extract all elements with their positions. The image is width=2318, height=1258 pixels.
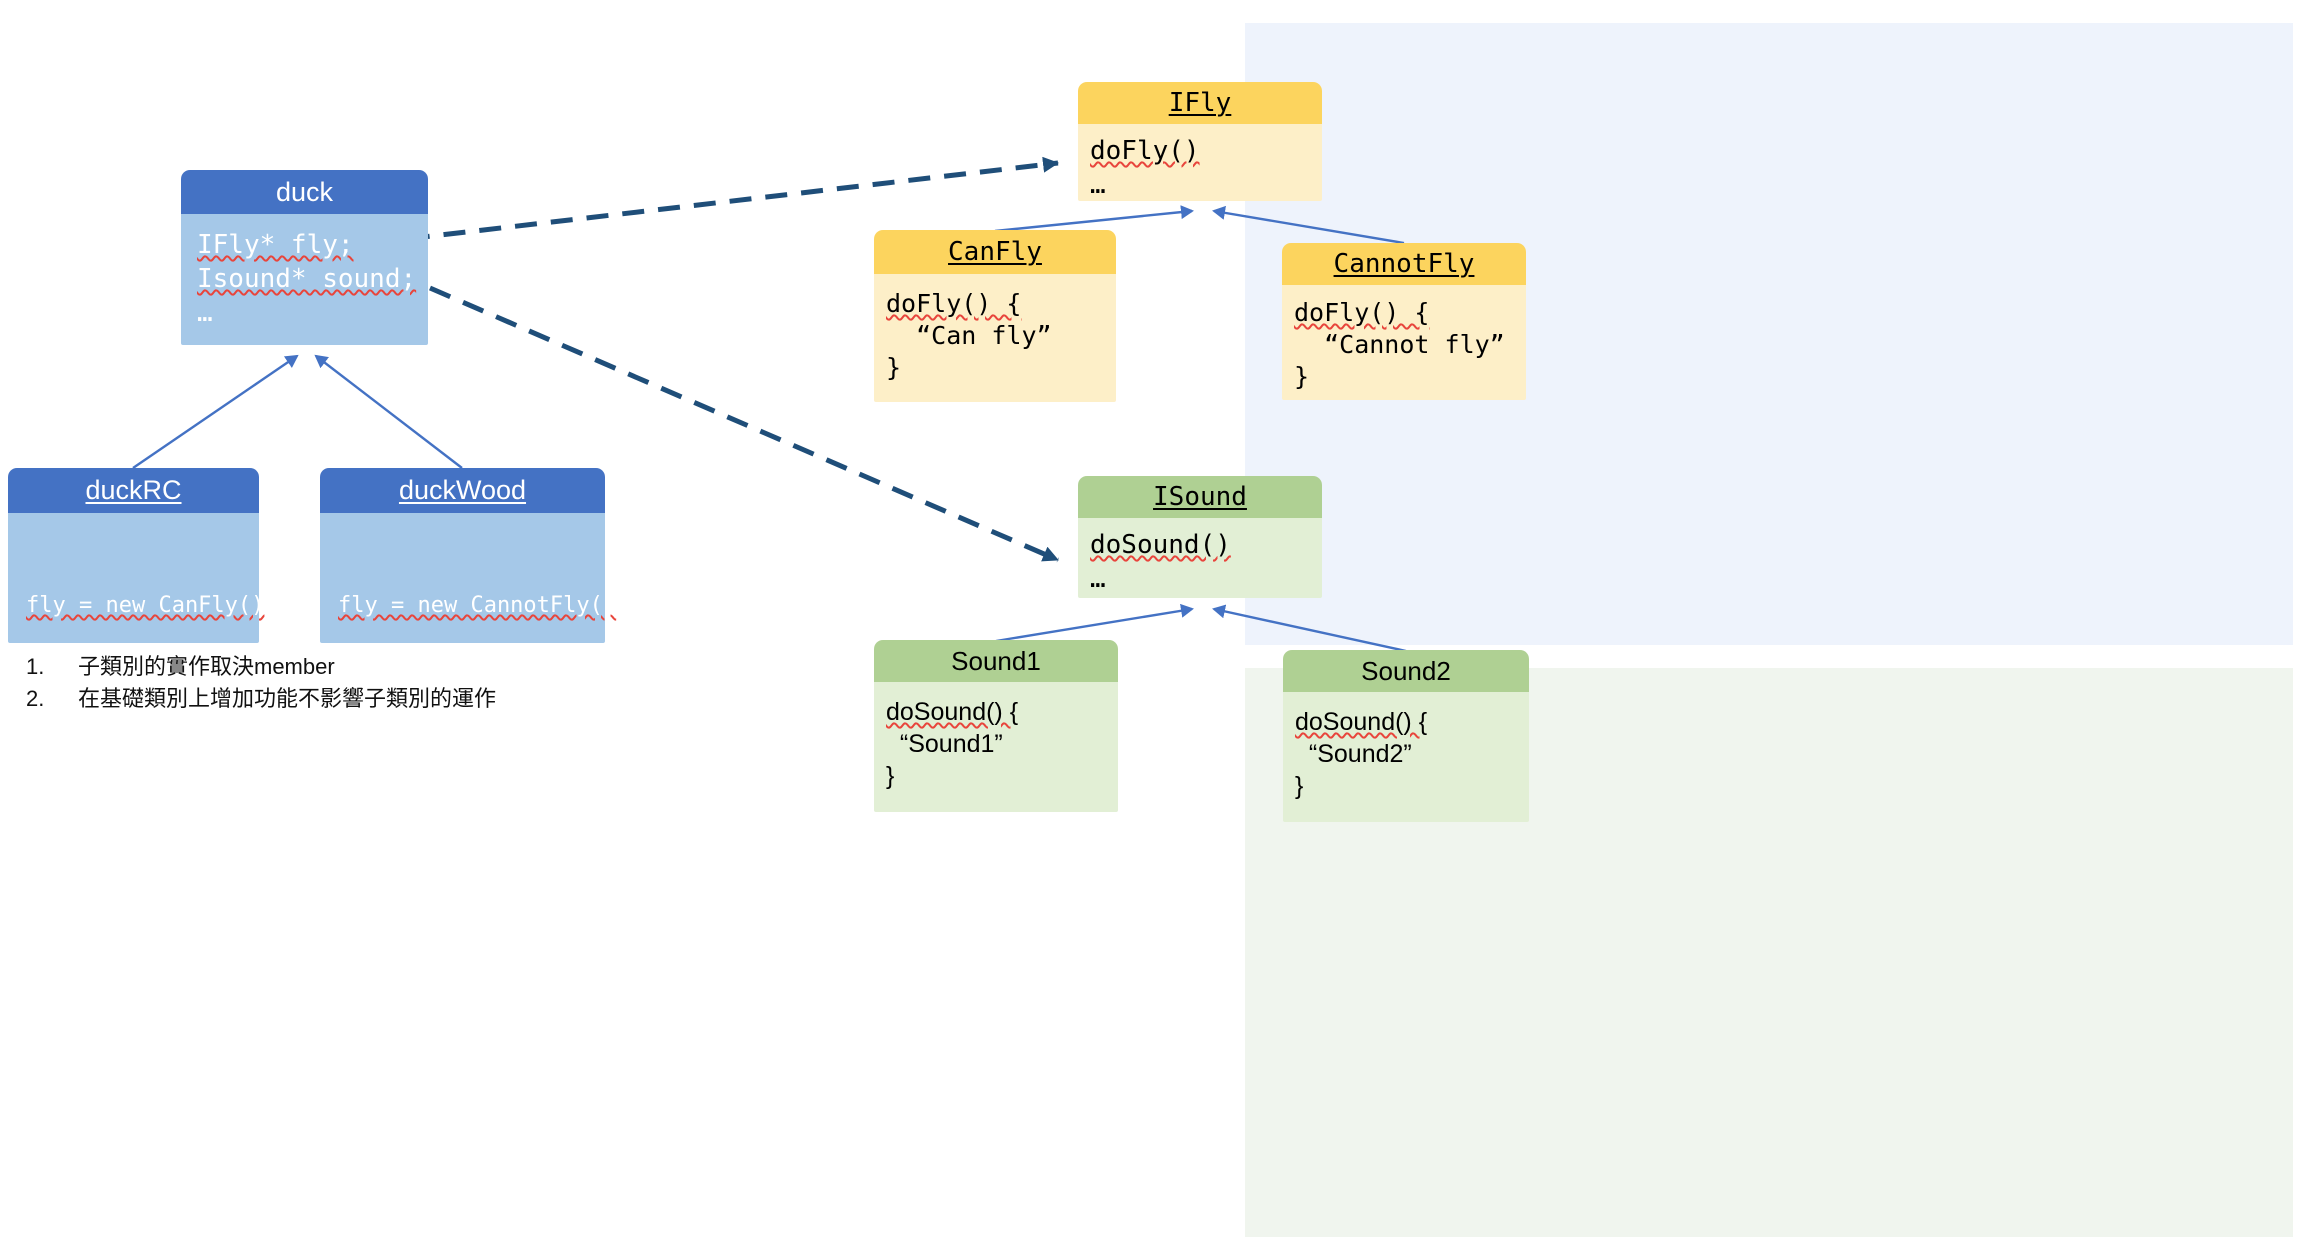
- class-box-isound[interactable]: ISound doSound() …: [1078, 476, 1322, 598]
- method-dosound-isound: doSound(): [1090, 530, 1231, 560]
- method-body-sound1: “Sound1”: [886, 730, 1003, 758]
- class-title-duck: duck: [181, 170, 428, 214]
- class-title-isound: ISound: [1078, 476, 1322, 518]
- member-ellipsis-duck: …: [197, 298, 213, 328]
- member-fly-assign-canfly: fly = new CanFly(): [26, 593, 264, 618]
- note-item: 2. 在基礎類別上增加功能不影響子類別的運作: [26, 683, 496, 715]
- note-text: 在基礎類別上增加功能不影響子類別的運作: [78, 683, 496, 715]
- class-title-canfly: CanFly: [874, 230, 1116, 274]
- method-body-sound2: “Sound2”: [1295, 740, 1412, 768]
- class-title-ifly: IFly: [1078, 82, 1322, 124]
- class-box-duck[interactable]: duck IFly* fly; Isound* sound; …: [181, 170, 428, 345]
- class-members-sound2: doSound() { “Sound2” }: [1283, 692, 1529, 822]
- note-item: 1. 子類別的實作取決member: [26, 651, 496, 683]
- method-dofly-ifly: doFly(): [1090, 136, 1200, 166]
- member-ifly-fly: IFly* fly;: [197, 230, 354, 260]
- class-members-ifly: doFly() …: [1078, 124, 1322, 201]
- member-ellipsis-isound: …: [1090, 564, 1106, 594]
- note-text: 子類別的實作取決member: [78, 651, 335, 683]
- class-box-duckrc[interactable]: duckRC fly = new CanFly(): [8, 468, 259, 643]
- note-number: 2.: [26, 683, 78, 715]
- method-dosound-sound1: doSound() {: [886, 698, 1018, 726]
- class-title-sound1: Sound1: [874, 640, 1118, 682]
- class-members-duckwood: fly = new CannotFly(): [320, 513, 605, 643]
- method-close-canfly: }: [886, 353, 901, 382]
- method-close-cannotfly: }: [1294, 362, 1309, 391]
- class-title-duckwood: duckWood: [320, 468, 605, 513]
- class-members-duck: IFly* fly; Isound* sound; …: [181, 214, 428, 345]
- member-ellipsis-ifly: …: [1090, 170, 1106, 200]
- method-dosound-sound2: doSound() {: [1295, 708, 1427, 736]
- method-close-sound2: }: [1295, 772, 1303, 800]
- diagram-canvas: duck IFly* fly; Isound* sound; … duckRC …: [0, 0, 2318, 1258]
- member-fly-assign-cannotfly: fly = new CannotFly(): [338, 593, 616, 618]
- class-box-cannotfly[interactable]: CannotFly doFly() { “Cannot fly” }: [1282, 243, 1526, 400]
- method-close-sound1: }: [886, 762, 894, 790]
- class-box-duckwood[interactable]: duckWood fly = new CannotFly(): [320, 468, 605, 643]
- member-isound-sound: Isound* sound;: [197, 264, 416, 294]
- notes-list: 1. 子類別的實作取決member 2. 在基礎類別上增加功能不影響子類別的運作: [26, 651, 496, 715]
- class-members-isound: doSound() …: [1078, 518, 1322, 598]
- method-body-canfly: “Can fly”: [886, 321, 1052, 350]
- class-members-canfly: doFly() { “Can fly” }: [874, 274, 1116, 402]
- method-body-cannotfly: “Cannot fly”: [1294, 330, 1505, 359]
- class-title-duckrc: duckRC: [8, 468, 259, 513]
- method-dofly-canfly: doFly() {: [886, 289, 1021, 318]
- class-box-canfly[interactable]: CanFly doFly() { “Can fly” }: [874, 230, 1116, 402]
- class-box-sound1[interactable]: Sound1 doSound() { “Sound1” }: [874, 640, 1118, 812]
- class-title-cannotfly: CannotFly: [1282, 243, 1526, 285]
- method-dofly-cannotfly: doFly() {: [1294, 298, 1429, 327]
- class-members-duckrc: fly = new CanFly(): [8, 513, 259, 643]
- class-box-ifly[interactable]: IFly doFly() …: [1078, 82, 1322, 201]
- class-members-cannotfly: doFly() { “Cannot fly” }: [1282, 285, 1526, 400]
- class-box-sound2[interactable]: Sound2 doSound() { “Sound2” }: [1283, 650, 1529, 822]
- class-title-sound2: Sound2: [1283, 650, 1529, 692]
- note-number: 1.: [26, 651, 78, 683]
- class-members-sound1: doSound() { “Sound1” }: [874, 682, 1118, 812]
